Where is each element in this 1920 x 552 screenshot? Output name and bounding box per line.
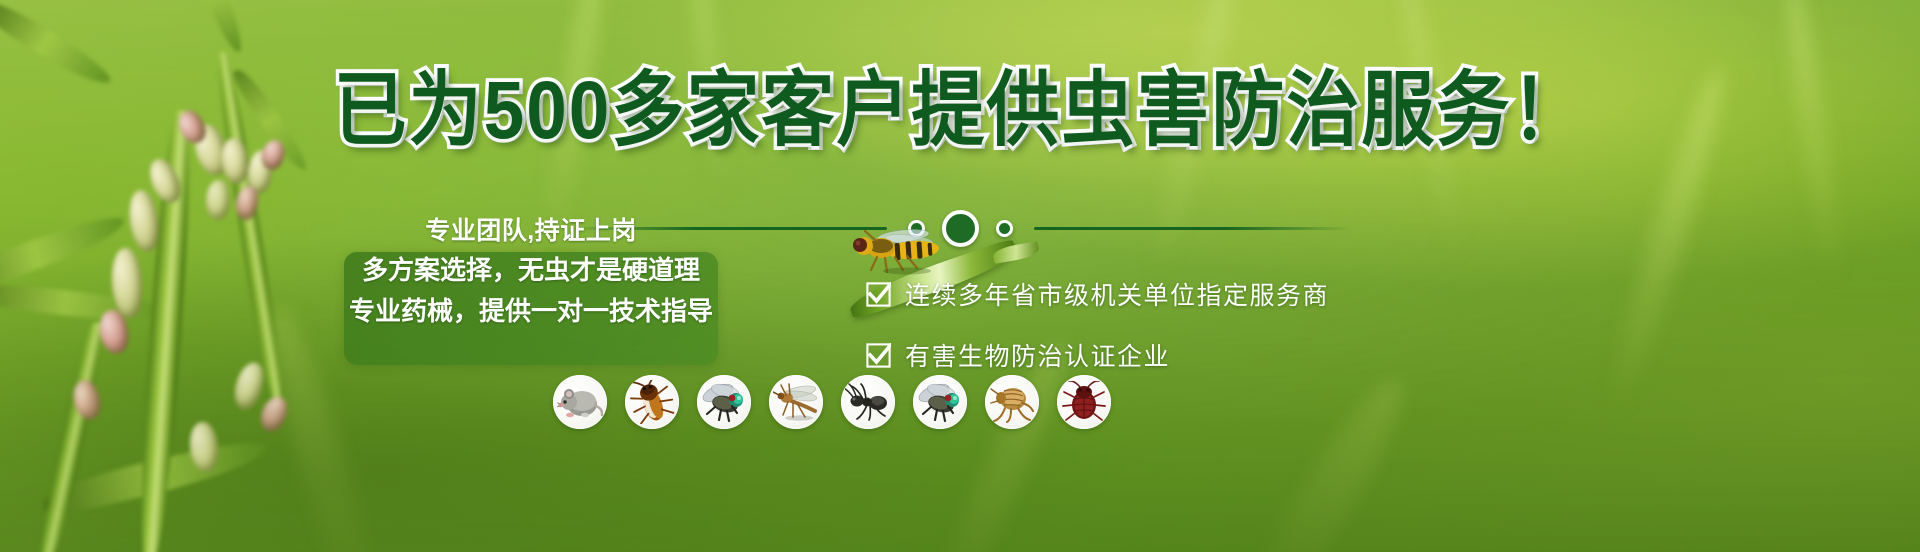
bullet-item: 连续多年省市级机关单位指定服务商 [866, 276, 1329, 312]
bedbug-icon[interactable] [1057, 375, 1111, 429]
checkbox-checked-icon [866, 282, 891, 307]
bullet-label: 有害生物防治认证企业 [905, 337, 1170, 373]
fly-icon-2[interactable] [913, 375, 967, 429]
hoverfly-icon [851, 226, 959, 276]
mosquito-icon[interactable] [769, 375, 823, 429]
feature-line-3: 专业药械，提供一对一技术指导 [349, 293, 713, 331]
cockroach-icon[interactable] [625, 375, 679, 429]
checkbox-checked-icon [866, 343, 891, 368]
features-panel-text: 专业团队,持证上岗 多方案选择，无虫才是硬道理 专业药械，提供一对一技术指导 [340, 213, 722, 331]
ant-icon[interactable] [841, 375, 895, 429]
divider-line-right [1034, 227, 1352, 230]
mouse-icon[interactable] [553, 375, 607, 429]
feature-line-1: 专业团队,持证上岗 [425, 213, 636, 249]
flea-icon[interactable] [985, 375, 1039, 429]
page-title: 已为500多家客户提供虫害防治服务！ [0, 70, 1920, 152]
pest-control-banner: 已为500多家客户提供虫害防治服务！ 专业团队,持证上岗 多方案选择，无虫才是硬… [0, 0, 1920, 552]
page-title-text: 已为500多家客户提供虫害防治服务！ [334, 65, 1587, 156]
feature-line-2: 多方案选择，无虫才是硬道理 [362, 252, 700, 290]
pest-icon-row [553, 375, 1111, 429]
bullet-label: 连续多年省市级机关单位指定服务商 [905, 276, 1329, 312]
fly-icon[interactable] [697, 375, 751, 429]
bullet-item: 有害生物防治认证企业 [866, 337, 1329, 373]
certification-bullets: 连续多年省市级机关单位指定服务商 有害生物防治认证企业 [866, 276, 1329, 373]
